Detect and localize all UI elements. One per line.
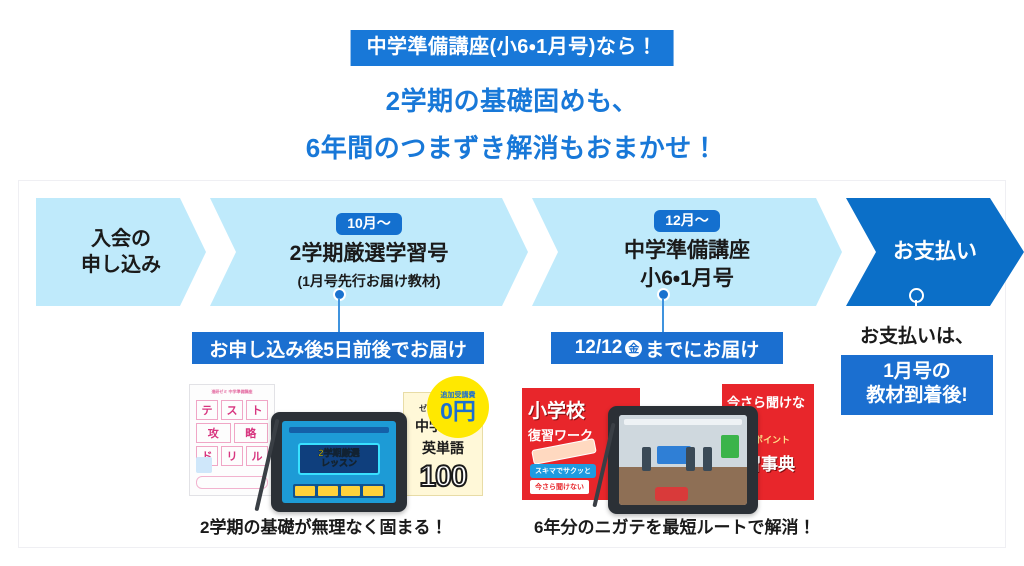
connector-line-payment	[915, 300, 917, 308]
workbook-badge-square	[196, 457, 212, 473]
screen-lesson-title: 2学期厳選 レッスン	[298, 443, 380, 475]
tablet-screen-left: 2学期厳選 レッスン	[282, 421, 396, 503]
screen-character	[703, 447, 712, 471]
review-workbook-tag2: 今さら聞けない	[530, 480, 589, 494]
flow-step-term2: 10月〜 2学期厳選学習号 (1月号先行お届け教材)	[210, 198, 528, 306]
prep-month-badge: 12月〜	[654, 210, 720, 232]
drill-char: 略	[234, 423, 269, 443]
drill-char: ス	[221, 400, 243, 420]
payment-title: お支払い	[893, 238, 977, 265]
tray-icon	[318, 486, 338, 496]
prep-title: 中学準備講座 小6・1月号	[624, 237, 750, 293]
tray-icon	[295, 486, 315, 496]
term2-subtitle: (1月号先行お届け教材)	[297, 271, 440, 291]
header-badge: 中学準備講座(小6・1月号)なら！	[351, 30, 674, 66]
payment-note: お支払いは、 1月号の 教材到着後!	[826, 326, 1008, 415]
prep-title-line1: 中学準備講座	[624, 239, 750, 262]
screen-side-card	[721, 435, 739, 458]
flow-step-payment: お支払い	[846, 198, 1024, 306]
product-scene-right: 小学校 復習ワーク スキマでサクッと 今さら聞けない 今さら聞けない 小学校ポイ…	[522, 378, 814, 506]
workbook-top-caption: 進研ゼミ 中学準備講座	[190, 389, 274, 395]
delivery-day-circle: 金	[625, 340, 642, 357]
delivery-suffix: までにお届け	[645, 335, 759, 362]
drill-char: リ	[221, 446, 243, 466]
drill-char: 攻	[196, 423, 231, 443]
product-scene-left: 進研ゼミ 中学準備講座 テ ス ト 攻 略 ド リ ル	[185, 378, 485, 506]
signup-title-line1: 入会の	[91, 228, 151, 250]
free-fee-badge: 追加受講費 0円	[427, 376, 489, 438]
drill-char: ト	[246, 400, 268, 420]
flow-strip: 入会の 申し込み 10月〜 2学期厳選学習号 (1月号先行お届け教材) 12月〜…	[18, 198, 1006, 306]
signup-title-line2: 申し込み	[81, 254, 161, 276]
term2-title: 2学期厳選学習号	[290, 240, 449, 267]
infographic-page: 中学準備講座(小6・1月号)なら！ 2学期の基礎固めも、 6年間のつまずき解消も…	[0, 0, 1024, 566]
connector-line-left	[338, 298, 340, 332]
delivery-date: 12/12	[575, 337, 623, 359]
flow-step-prep: 12月〜 中学準備講座 小6・1月号	[532, 198, 842, 306]
screen-character	[642, 447, 651, 471]
headline-line-1: 2学期の基礎固めも、	[0, 83, 1024, 121]
delivery-bar-left: お申し込み後5日前後でお届け	[192, 332, 484, 364]
vocab-book-title2: 英単語	[404, 438, 482, 458]
payment-note-lead: お支払いは、	[826, 326, 1008, 349]
vocab-book-number: 100	[404, 460, 482, 494]
screen-vehicle	[655, 487, 688, 501]
free-fee-badge-amount: 0円	[440, 400, 476, 423]
tray-icon	[363, 486, 383, 496]
workbook-footer-band	[196, 476, 268, 489]
connector-line-right	[662, 298, 664, 332]
review-workbook-tag1: スキマでサクッと	[530, 464, 596, 478]
screen-topbar	[624, 419, 742, 425]
screen-title-line2: レッスン	[321, 458, 357, 468]
screen-title-line1: 2学期厳選	[318, 448, 359, 458]
tablet-device-right	[608, 406, 758, 514]
screen-icon-tray	[293, 484, 384, 498]
tray-icon	[341, 486, 361, 496]
payment-box-line2: 教材到着後!	[866, 385, 967, 406]
screen-character	[686, 447, 695, 471]
caption-left: 2学期の基礎が無理なく固まる！	[200, 513, 447, 538]
tablet-screen-right	[619, 415, 747, 505]
payment-note-box: 1月号の 教材到着後!	[841, 355, 993, 416]
flow-step-signup: 入会の 申し込み	[36, 198, 206, 306]
flow-step-signup-title: 入会の 申し込み	[81, 226, 161, 278]
drill-char: テ	[196, 400, 218, 420]
tablet-device-left: 2学期厳選 レッスン	[271, 412, 407, 512]
delivery-bar-right: 12/12 金 までにお届け	[551, 332, 783, 364]
headline-line-2: 6年間のつまずき解消もおまかせ！	[0, 130, 1024, 168]
payment-box-line1: 1月号の	[883, 361, 951, 382]
prep-title-line2: 小6・1月号	[640, 267, 734, 290]
caption-right: 6年分のニガテを最短ルートで解消！	[534, 513, 815, 538]
page-headline: 2学期の基礎固めも、 6年間のつまずき解消もおまかせ！	[0, 83, 1024, 167]
screen-topbar	[289, 427, 389, 434]
term2-month-badge: 10月〜	[336, 213, 402, 235]
